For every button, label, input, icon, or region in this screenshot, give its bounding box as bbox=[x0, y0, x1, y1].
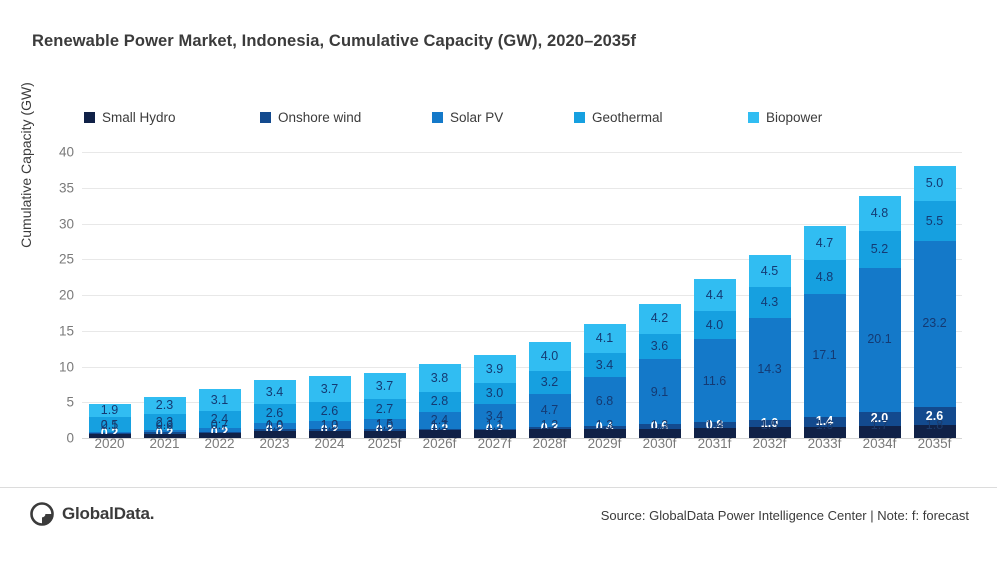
bar-segment-biopower[interactable]: 4.1 bbox=[584, 324, 626, 353]
legend-label: Solar PV bbox=[450, 110, 503, 125]
bar-column[interactable]: 1.92.10.10.20.52020 bbox=[82, 152, 137, 438]
y-axis-tick: 5 bbox=[66, 395, 74, 410]
small-hydro-value-label: 1.3 bbox=[632, 418, 687, 432]
bar-value-label: 17.1 bbox=[812, 349, 836, 362]
legend-swatch-icon bbox=[432, 112, 443, 123]
bar-value-label: 5.2 bbox=[871, 243, 888, 256]
bar-value-label: 4.4 bbox=[706, 289, 723, 302]
bar-segment-biopower[interactable]: 4.8 bbox=[859, 196, 901, 230]
bar-column[interactable]: 3.82.82.40.21.12026f bbox=[412, 152, 467, 438]
bar-column[interactable]: 4.23.69.10.61.32030f bbox=[632, 152, 687, 438]
bar-value-label: 9.1 bbox=[651, 386, 668, 399]
bar-column[interactable]: 4.44.011.60.81.42031f bbox=[687, 152, 742, 438]
x-axis-tick: 2020 bbox=[82, 436, 137, 451]
bar-segment-geothermal[interactable]: 3.4 bbox=[584, 353, 626, 377]
bar-segment-biopower[interactable]: 3.9 bbox=[474, 355, 516, 383]
bar-segment-biopower[interactable]: 3.7 bbox=[364, 373, 406, 399]
bar-segment-biopower[interactable]: 4.4 bbox=[694, 279, 736, 310]
chart-legend: Small HydroOnshore windSolar PVGeotherma… bbox=[84, 110, 844, 130]
small-hydro-value-label: 1.1 bbox=[467, 418, 522, 432]
bar-value-label: 1.9 bbox=[101, 404, 118, 417]
bar-column[interactable]: 2.32.30.30.20.62021 bbox=[137, 152, 192, 438]
small-hydro-value-label: 1.8 bbox=[907, 418, 962, 432]
y-axis-tick: 15 bbox=[59, 323, 74, 338]
x-axis-tick: 2026f bbox=[412, 436, 467, 451]
bar-value-label: 4.0 bbox=[541, 350, 558, 363]
x-axis-tick: 2027f bbox=[467, 436, 522, 451]
bar-segment-geothermal[interactable]: 4.3 bbox=[749, 287, 791, 318]
bar-segment-biopower[interactable]: 4.7 bbox=[804, 226, 846, 260]
legend-label: Geothermal bbox=[592, 110, 663, 125]
bar-value-label: 3.9 bbox=[486, 363, 503, 376]
bar-value-label: 4.3 bbox=[761, 296, 778, 309]
source-note: Source: GlobalData Power Intelligence Ce… bbox=[601, 508, 969, 523]
x-axis-tick: 2034f bbox=[852, 436, 907, 451]
bar-value-label: 3.4 bbox=[266, 386, 283, 399]
stacked-bar[interactable]: 4.44.011.60.8 bbox=[694, 279, 736, 438]
small-hydro-value-label: 1.2 bbox=[522, 418, 577, 432]
bar-value-label: 4.5 bbox=[761, 265, 778, 278]
stacked-bar[interactable]: 4.85.220.12.0 bbox=[859, 196, 901, 438]
small-hydro-value-label: 1.1 bbox=[412, 418, 467, 432]
bar-value-label: 23.2 bbox=[922, 317, 946, 330]
legend-label: Onshore wind bbox=[278, 110, 361, 125]
bar-value-label: 4.0 bbox=[706, 319, 723, 332]
bar-value-label: 5.5 bbox=[926, 215, 943, 228]
bar-column[interactable]: 4.13.46.80.41.32029f bbox=[577, 152, 632, 438]
plot-area: 0510152025303540 1.92.10.10.20.520202.32… bbox=[82, 152, 962, 438]
x-axis-tick: 2025f bbox=[357, 436, 412, 451]
x-axis-tick: 2029f bbox=[577, 436, 632, 451]
bar-segment-solar-pv[interactable]: 11.6 bbox=[694, 339, 736, 422]
small-hydro-value-label: 0.5 bbox=[82, 418, 137, 432]
y-axis-tick: 35 bbox=[59, 180, 74, 195]
y-axis-tick: 20 bbox=[59, 288, 74, 303]
x-axis-tick: 2030f bbox=[632, 436, 687, 451]
bar-value-label: 4.1 bbox=[596, 332, 613, 345]
bar-segment-biopower[interactable]: 3.4 bbox=[254, 380, 296, 404]
bar-value-label: 2.3 bbox=[156, 399, 173, 412]
bar-segment-geothermal[interactable]: 4.0 bbox=[694, 311, 736, 340]
x-axis-tick: 2032f bbox=[742, 436, 797, 451]
brand-name: GlobalData. bbox=[62, 504, 154, 524]
legend-swatch-icon bbox=[260, 112, 271, 123]
legend-item-geothermal[interactable]: Geothermal bbox=[574, 110, 663, 125]
y-axis-tick: 40 bbox=[59, 145, 74, 160]
x-axis-tick: 2022 bbox=[192, 436, 247, 451]
small-hydro-value-label: 1.4 bbox=[687, 418, 742, 432]
bar-value-label: 2.7 bbox=[376, 403, 393, 416]
bar-segment-biopower[interactable]: 4.5 bbox=[749, 255, 791, 287]
bar-column[interactable]: 3.72.71.50.21.02025f bbox=[357, 152, 412, 438]
bar-column[interactable]: 3.93.03.40.21.12027f bbox=[467, 152, 522, 438]
x-axis-tick: 2031f bbox=[687, 436, 742, 451]
x-axis-tick: 2021 bbox=[137, 436, 192, 451]
bar-column[interactable]: 3.42.60.90.21.02023 bbox=[247, 152, 302, 438]
bar-value-label: 2.6 bbox=[321, 405, 338, 418]
x-axis-tick: 2033f bbox=[797, 436, 852, 451]
bar-value-label: 4.8 bbox=[871, 207, 888, 220]
legend-item-onshore-wind[interactable]: Onshore wind bbox=[260, 110, 361, 125]
bar-segment-biopower[interactable]: 4.0 bbox=[529, 342, 571, 371]
stacked-bar[interactable]: 5.05.523.22.6 bbox=[914, 166, 956, 438]
bar-segment-biopower[interactable]: 2.3 bbox=[144, 397, 186, 413]
bar-segment-biopower[interactable]: 3.1 bbox=[199, 389, 241, 411]
small-hydro-value-label: 1.6 bbox=[797, 418, 852, 432]
x-axis-tick: 2023 bbox=[247, 436, 302, 451]
bar-column[interactable]: 3.12.40.50.20.72022 bbox=[192, 152, 247, 438]
bar-value-label: 14.3 bbox=[757, 363, 781, 376]
bar-segment-biopower[interactable]: 3.8 bbox=[419, 364, 461, 391]
bar-segment-solar-pv[interactable]: 9.1 bbox=[639, 359, 681, 424]
small-hydro-value-label: 1.0 bbox=[302, 418, 357, 432]
bar-segment-geothermal[interactable]: 3.2 bbox=[529, 371, 571, 394]
bar-value-label: 20.1 bbox=[867, 333, 891, 346]
bar-segment-geothermal[interactable]: 2.7 bbox=[364, 399, 406, 418]
small-hydro-value-label: 1.7 bbox=[852, 418, 907, 432]
x-axis-tick: 2028f bbox=[522, 436, 577, 451]
bar-segment-geothermal[interactable]: 3.0 bbox=[474, 383, 516, 404]
chart-page: Renewable Power Market, Indonesia, Cumul… bbox=[0, 0, 997, 561]
bar-value-label: 3.4 bbox=[596, 359, 613, 372]
bar-column[interactable]: 4.03.24.70.31.22028f bbox=[522, 152, 577, 438]
bar-segment-geothermal[interactable]: 3.6 bbox=[639, 334, 681, 360]
bar-value-label: 4.2 bbox=[651, 312, 668, 325]
legend-label: Biopower bbox=[766, 110, 822, 125]
y-axis-tick: 10 bbox=[59, 359, 74, 374]
bar-segment-geothermal[interactable]: 5.5 bbox=[914, 201, 956, 240]
legend-item-biopower[interactable]: Biopower bbox=[748, 110, 822, 125]
bar-value-label: 4.7 bbox=[816, 237, 833, 250]
bar-value-label: 5.0 bbox=[926, 177, 943, 190]
small-hydro-value-label: 1.0 bbox=[357, 418, 412, 432]
bar-value-label: 4.8 bbox=[816, 271, 833, 284]
bar-segment-solar-pv[interactable]: 14.3 bbox=[749, 318, 791, 420]
bar-segment-solar-pv[interactable]: 23.2 bbox=[914, 241, 956, 407]
stacked-bar[interactable]: 4.74.817.11.4 bbox=[804, 226, 846, 438]
legend-swatch-icon bbox=[574, 112, 585, 123]
bar-column[interactable]: 4.54.314.31.01.52032f bbox=[742, 152, 797, 438]
bar-value-label: 3.6 bbox=[651, 340, 668, 353]
x-axis-tick: 2035f bbox=[907, 436, 962, 451]
bar-segment-biopower[interactable]: 5.0 bbox=[914, 166, 956, 202]
legend-swatch-icon bbox=[748, 112, 759, 123]
legend-item-solar-pv[interactable]: Solar PV bbox=[432, 110, 503, 125]
small-hydro-value-label: 1.5 bbox=[742, 418, 797, 432]
bar-value-label: 3.1 bbox=[211, 394, 228, 407]
bar-segment-geothermal[interactable]: 2.8 bbox=[419, 392, 461, 412]
brand: GlobalData. bbox=[30, 502, 154, 526]
bar-value-label: 3.0 bbox=[486, 387, 503, 400]
bar-value-label: 3.7 bbox=[376, 380, 393, 393]
bar-segment-geothermal[interactable]: 4.8 bbox=[804, 260, 846, 294]
y-axis-tick: 25 bbox=[59, 252, 74, 267]
bar-segment-geothermal[interactable]: 5.2 bbox=[859, 231, 901, 268]
bar-segment-biopower[interactable]: 3.7 bbox=[309, 376, 351, 402]
y-axis-tick: 0 bbox=[66, 431, 74, 446]
bar-value-label: 2.8 bbox=[431, 395, 448, 408]
bar-value-label: 3.2 bbox=[541, 376, 558, 389]
bar-value-label: 4.7 bbox=[541, 404, 558, 417]
bar-segment-solar-pv[interactable]: 20.1 bbox=[859, 268, 901, 412]
bar-column[interactable]: 4.85.220.12.01.72034f bbox=[852, 152, 907, 438]
bar-value-label: 11.6 bbox=[703, 375, 726, 388]
bar-column[interactable]: 3.72.61.20.21.02024 bbox=[302, 152, 357, 438]
bar-group: 1.92.10.10.20.520202.32.30.30.20.620213.… bbox=[82, 152, 962, 438]
bar-segment-biopower[interactable]: 4.2 bbox=[639, 304, 681, 334]
footer-divider bbox=[0, 487, 997, 488]
bar-value-label: 3.8 bbox=[431, 372, 448, 385]
small-hydro-value-label: 0.6 bbox=[137, 418, 192, 432]
globaldata-logo-icon bbox=[30, 502, 54, 526]
bar-column[interactable]: 5.05.523.22.61.82035f bbox=[907, 152, 962, 438]
stacked-bar[interactable]: 4.54.314.31.0 bbox=[749, 255, 791, 438]
bar-segment-solar-pv[interactable]: 17.1 bbox=[804, 294, 846, 416]
small-hydro-value-label: 1.0 bbox=[247, 418, 302, 432]
bar-value-label: 6.8 bbox=[596, 395, 613, 408]
bar-value-label: 3.7 bbox=[321, 383, 338, 396]
y-axis-tick: 30 bbox=[59, 216, 74, 231]
bar-segment-biopower[interactable]: 1.9 bbox=[89, 404, 131, 418]
small-hydro-value-label: 0.7 bbox=[192, 418, 247, 432]
bar-column[interactable]: 4.74.817.11.41.62033f bbox=[797, 152, 852, 438]
small-hydro-value-label: 1.3 bbox=[577, 418, 632, 432]
x-axis-tick: 2024 bbox=[302, 436, 357, 451]
